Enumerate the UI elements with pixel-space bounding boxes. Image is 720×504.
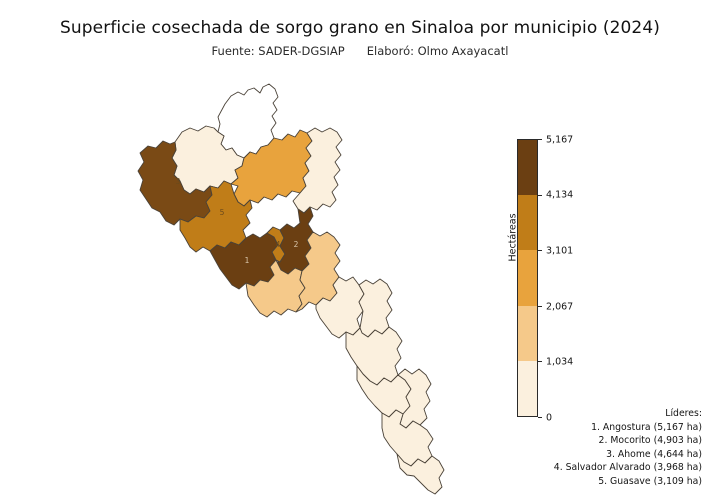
tick-label: 3,101	[546, 246, 573, 256]
tick-mark	[538, 139, 542, 140]
colorbar	[517, 139, 538, 417]
colorbar-tick: 5,167	[538, 139, 573, 140]
tick-mark	[538, 361, 542, 362]
leaders-annotation: Líderes: 1. Angostura (5,167 ha) 2. Moco…	[554, 407, 702, 488]
tick-label: 0	[546, 413, 552, 423]
tick-label: 4,134	[546, 191, 573, 201]
colorbar-band-1	[518, 361, 537, 416]
colorbar-tick: 1,034	[538, 361, 573, 362]
colorbar-band-4	[518, 195, 537, 250]
colorbar-tick: 4,134	[538, 195, 573, 196]
tick-mark	[538, 250, 542, 251]
page-title: Superficie cosechada de sorgo grano en S…	[0, 18, 720, 38]
leaders-heading: Líderes:	[554, 407, 702, 420]
leader-item: 2. Mocorito (4,903 ha)	[554, 434, 702, 447]
colorbar-tick: 0	[538, 417, 552, 418]
tick-mark	[538, 306, 542, 307]
leader-item: 3. Ahome (4,644 ha)	[554, 448, 702, 461]
figure-subtitle: Fuente: SADER-DGSIAPElaboró: Olmo Axayac…	[0, 44, 720, 58]
tick-label: 1,034	[546, 358, 573, 368]
leader-item: 5. Guasave (3,109 ha)	[554, 475, 702, 488]
source-text: Fuente: SADER-DGSIAP	[212, 44, 345, 58]
tick-label: 2,067	[546, 302, 573, 312]
region-cosala[interactable]	[359, 279, 392, 337]
colorbar-band-3	[518, 250, 537, 305]
region-san-ignacio[interactable]	[346, 327, 402, 385]
author-text: Elaboró: Olmo Axayacatl	[367, 44, 509, 58]
tick-mark	[538, 417, 542, 418]
colorbar-axis-label: Hectáreas	[508, 213, 519, 261]
colorbar-band-2	[518, 306, 537, 361]
colorbar-tick: 2,067	[538, 306, 573, 307]
leader-item: 1. Angostura (5,167 ha)	[554, 421, 702, 434]
tick-label: 5,167	[546, 135, 573, 145]
colorbar-tick-list: 5,167 4,134 3,101 2,067 1,034 0	[538, 139, 598, 417]
leader-item: 4. Salvador Alvarado (3,968 ha)	[554, 461, 702, 474]
colorbar-tick: 3,101	[538, 250, 573, 251]
figure-canvas: Superficie cosechada de sorgo grano en S…	[0, 0, 720, 504]
tick-mark	[538, 195, 542, 196]
colorbar-band-5	[518, 140, 537, 195]
choropleth-map: 3 5 1 2 4	[130, 62, 510, 498]
